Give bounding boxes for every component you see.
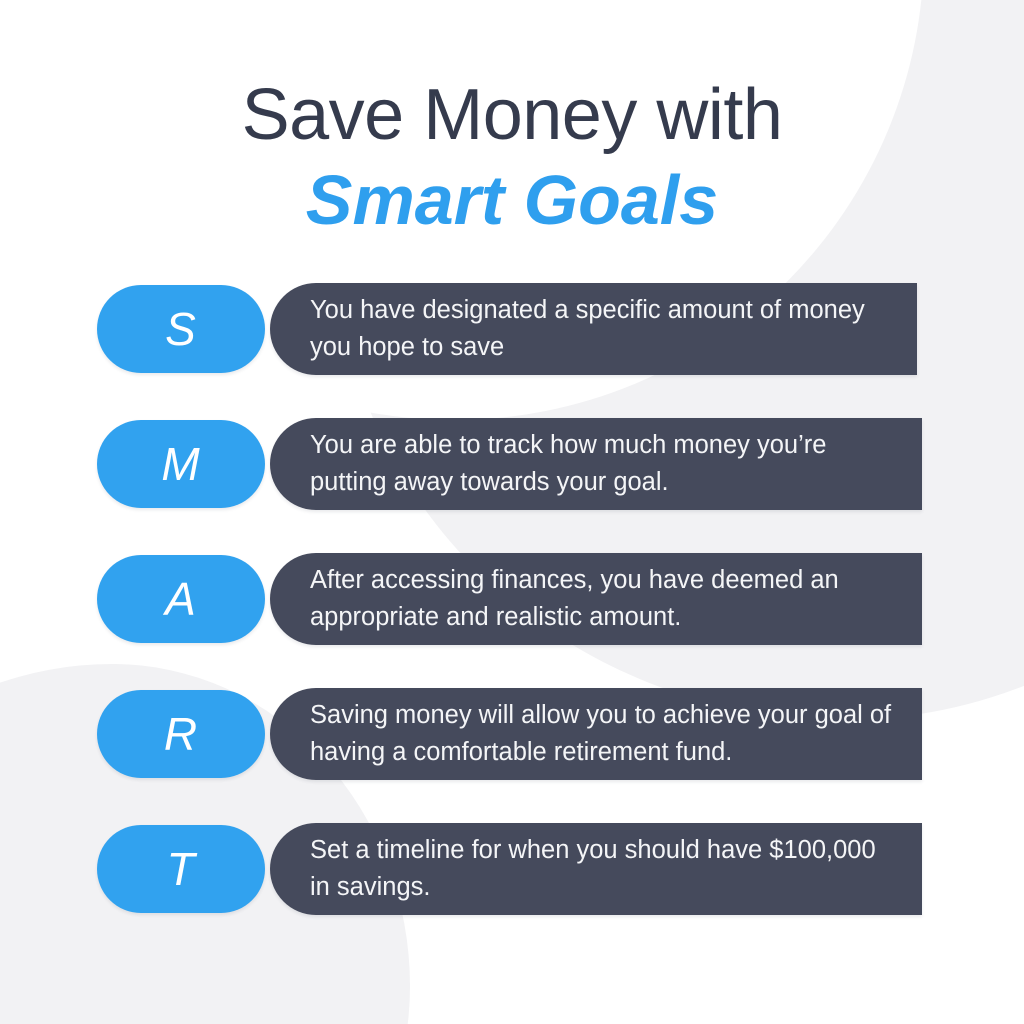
list-item: A After accessing finances, you have dee… [0,553,1024,645]
letter-badge-s: S [97,285,265,373]
letter-badge-label: S [165,306,197,352]
list-item: M You are able to track how much money y… [0,418,1024,510]
description-card-t: Set a timeline for when you should have … [270,823,922,915]
letter-badge-r: R [97,690,265,778]
infographic-poster: Save Money with Smart Goals S You have d… [0,0,1024,1024]
page-title: Save Money with Smart Goals [0,72,1024,242]
list-item: T Set a timeline for when you should hav… [0,823,1024,915]
description-text: After accessing finances, you have deeme… [270,562,922,636]
description-text: You are able to track how much money you… [270,427,922,501]
letter-badge-label: A [165,576,197,622]
list-item: S You have designated a specific amount … [0,283,1024,375]
page-title-line-1: Save Money with [0,72,1024,158]
list-item: R Saving money will allow you to achieve… [0,688,1024,780]
smart-goal-list: S You have designated a specific amount … [0,283,1024,915]
description-text: Set a timeline for when you should have … [270,832,922,906]
page-title-line-2: Smart Goals [0,158,1024,242]
description-text: You have designated a specific amount of… [270,292,917,366]
description-text: Saving money will allow you to achieve y… [270,697,922,771]
description-card-r: Saving money will allow you to achieve y… [270,688,922,780]
description-card-a: After accessing finances, you have deeme… [270,553,922,645]
description-card-s: You have designated a specific amount of… [270,283,917,375]
letter-badge-t: T [97,825,265,913]
letter-badge-label: T [166,846,195,892]
description-card-m: You are able to track how much money you… [270,418,922,510]
letter-badge-label: M [161,441,200,487]
letter-badge-label: R [164,711,198,757]
letter-badge-m: M [97,420,265,508]
letter-badge-a: A [97,555,265,643]
